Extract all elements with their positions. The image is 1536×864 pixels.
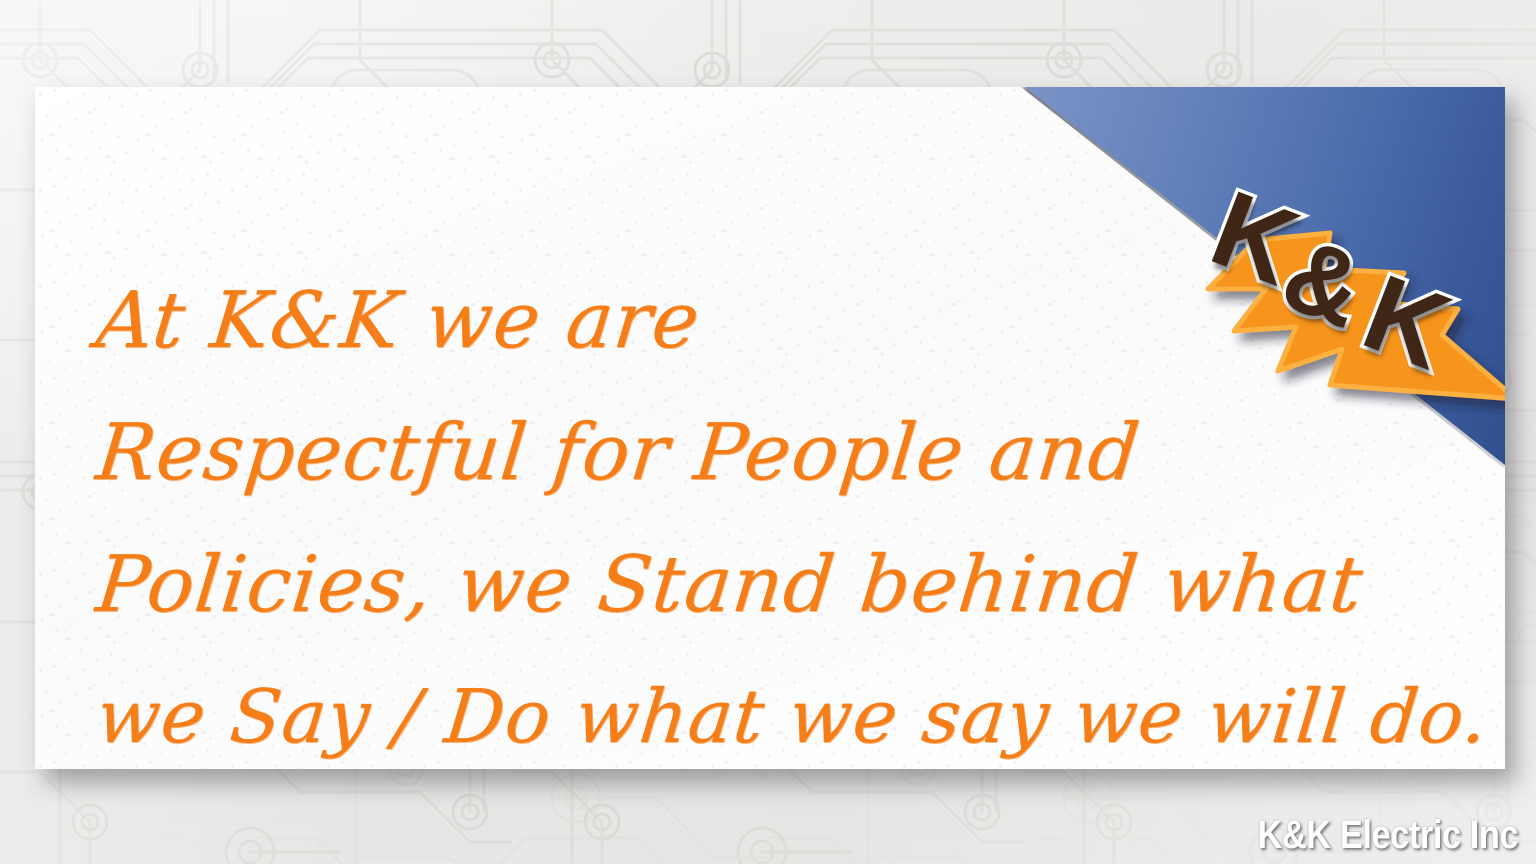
quote-line-3: Policies, we Stand behind what: [90, 519, 1505, 651]
quote-line-1: At K&K we are: [90, 255, 1505, 387]
quote-line-4: we Say / Do what we say we will do.: [90, 651, 1505, 769]
content-card: K K & & K K At K&K we are Respectful for…: [35, 87, 1505, 769]
quote-text-block: At K&K we are Respectful for People and …: [97, 255, 1505, 769]
slide-canvas: K K & & K K At K&K we are Respectful for…: [0, 0, 1536, 864]
footer-brand-label: K&K Electric Inc: [1257, 813, 1518, 858]
quote-line-2: Respectful for People and: [90, 387, 1505, 519]
